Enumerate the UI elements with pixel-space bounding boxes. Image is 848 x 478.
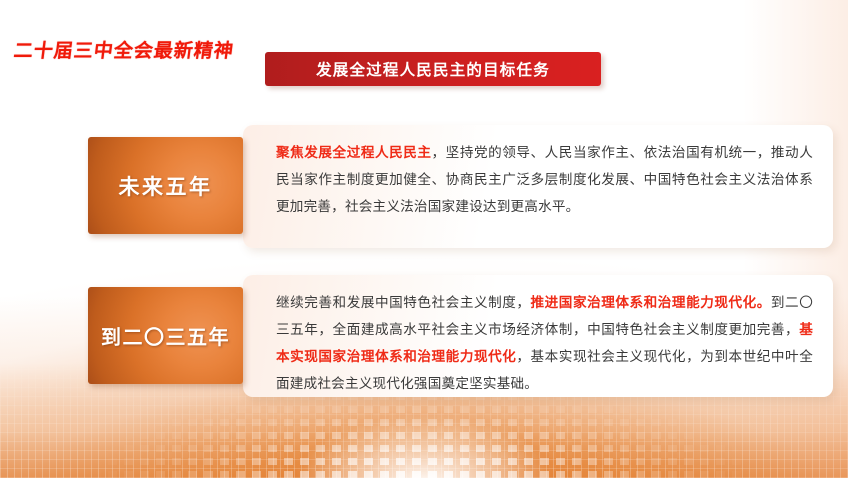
paragraph-1-segment-1-highlight: 聚焦发展全过程人民民主 [276, 145, 432, 160]
period-tag-1[interactable]: 未来五年 [88, 137, 243, 234]
content-paragraph-1: 聚焦发展全过程人民民主，坚持党的领导、人民当家作主、依法治国有机统一，推动人民当… [243, 125, 833, 232]
content-card-2: 继续完善和发展中国特色社会主义制度，推进国家治理体系和治理能力现代化。到二〇三五… [243, 275, 833, 397]
content-row-1: 聚焦发展全过程人民民主，坚持党的领导、人民当家作主、依法治国有机统一，推动人民当… [88, 137, 243, 234]
content-paragraph-2: 继续完善和发展中国特色社会主义制度，推进国家治理体系和治理能力现代化。到二〇三五… [243, 275, 833, 409]
slide-kicker-label: 二十届三中全会最新精神 [12, 36, 235, 63]
banner-title-text: 发展全过程人民民主的目标任务 [316, 58, 550, 80]
paragraph-2-segment-2-highlight: 推进国家治理体系和治理能力现代化。 [531, 295, 771, 310]
slide-canvas: 二十届三中全会最新精神 发展全过程人民民主的目标任务 聚焦发展全过程人民民主，坚… [0, 0, 848, 478]
period-tag-2[interactable]: 到二〇三五年 [88, 287, 243, 384]
content-card-1: 聚焦发展全过程人民民主，坚持党的领导、人民当家作主、依法治国有机统一，推动人民当… [243, 125, 833, 248]
period-tag-2-label: 到二〇三五年 [101, 321, 230, 350]
paragraph-2-segment-1: 继续完善和发展中国特色社会主义制度， [276, 295, 531, 310]
content-row-2: 继续完善和发展中国特色社会主义制度，推进国家治理体系和治理能力现代化。到二〇三五… [88, 287, 243, 384]
title-banner: 发展全过程人民民主的目标任务 [265, 52, 601, 86]
period-tag-1-label: 未来五年 [119, 171, 213, 201]
